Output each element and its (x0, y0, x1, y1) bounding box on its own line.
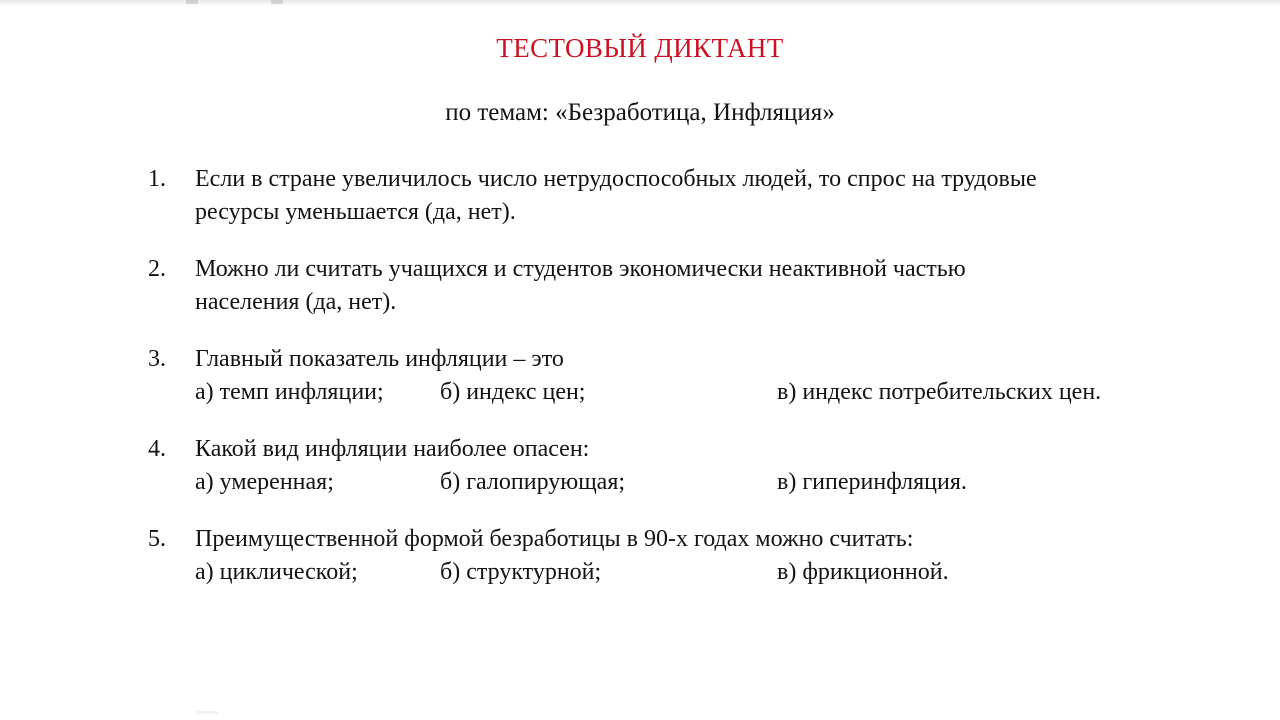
option-b[interactable]: б) индекс цен; (440, 376, 585, 409)
question-stem: Главный показатель инфляции – это (195, 343, 1208, 376)
question-body: Преимущественной формой безработицы в 90… (195, 523, 1208, 589)
question-stem: Если в стране увеличилось число нетрудос… (195, 163, 1208, 196)
question-body: Главный показатель инфляции – это а) тем… (195, 343, 1208, 409)
option-c[interactable]: в) индекс потребительских цен. (777, 376, 1101, 409)
question-body: Если в стране увеличилось число нетрудос… (195, 163, 1208, 229)
question-number: 2. (148, 253, 188, 286)
option-a[interactable]: а) темп инфляции; (195, 376, 384, 409)
question-list: 1. Если в стране увеличилось число нетру… (148, 163, 1208, 589)
question-stem: Какой вид инфляции наиболее опасен: (195, 433, 1208, 466)
question-number: 5. (148, 523, 188, 556)
question-body: Какой вид инфляции наиболее опасен: а) у… (195, 433, 1208, 499)
question-stem: Преимущественной формой безработицы в 90… (195, 523, 1208, 556)
question-item: 2. Можно ли считать учащихся и студентов… (148, 253, 1208, 319)
option-b[interactable]: б) структурной; (440, 556, 601, 589)
question-options: а) темп инфляции; б) индекс цен; в) инде… (195, 376, 1208, 409)
option-a[interactable]: а) умеренная; (195, 466, 334, 499)
page-subtitle: по темам: «Безработица, Инфляция» (0, 97, 1280, 129)
question-item: 4. Какой вид инфляции наиболее опасен: а… (148, 433, 1208, 499)
option-a[interactable]: а) циклической; (195, 556, 358, 589)
question-continuation: ресурсы уменьшается (да, нет). (195, 196, 1208, 229)
question-continuation: населения (да, нет). (195, 286, 1208, 319)
question-body: Можно ли считать учащихся и студентов эк… (195, 253, 1208, 319)
slide-canvas: ТЕСТОВЫЙ ДИКТАНТ по темам: «Безработица,… (0, 0, 1280, 720)
question-item: 5. Преимущественной формой безработицы в… (148, 523, 1208, 589)
question-item: 1. Если в стране увеличилось число нетру… (148, 163, 1208, 229)
question-item: 3. Главный показатель инфляции – это а) … (148, 343, 1208, 409)
page-title: ТЕСТОВЫЙ ДИКТАНТ (0, 31, 1280, 65)
option-c[interactable]: в) гиперинфляция. (777, 466, 967, 499)
question-number: 1. (148, 163, 188, 196)
question-options: а) умеренная; б) галопирующая; в) гипери… (195, 466, 1208, 499)
option-c[interactable]: в) фрикционной. (777, 556, 949, 589)
question-options: а) циклической; б) структурной; в) фрикц… (195, 556, 1208, 589)
question-number: 3. (148, 343, 188, 376)
clipped-next-item-marker (196, 711, 218, 720)
question-number: 4. (148, 433, 188, 466)
option-b[interactable]: б) галопирующая; (440, 466, 625, 499)
question-stem: Можно ли считать учащихся и студентов эк… (195, 253, 1208, 286)
